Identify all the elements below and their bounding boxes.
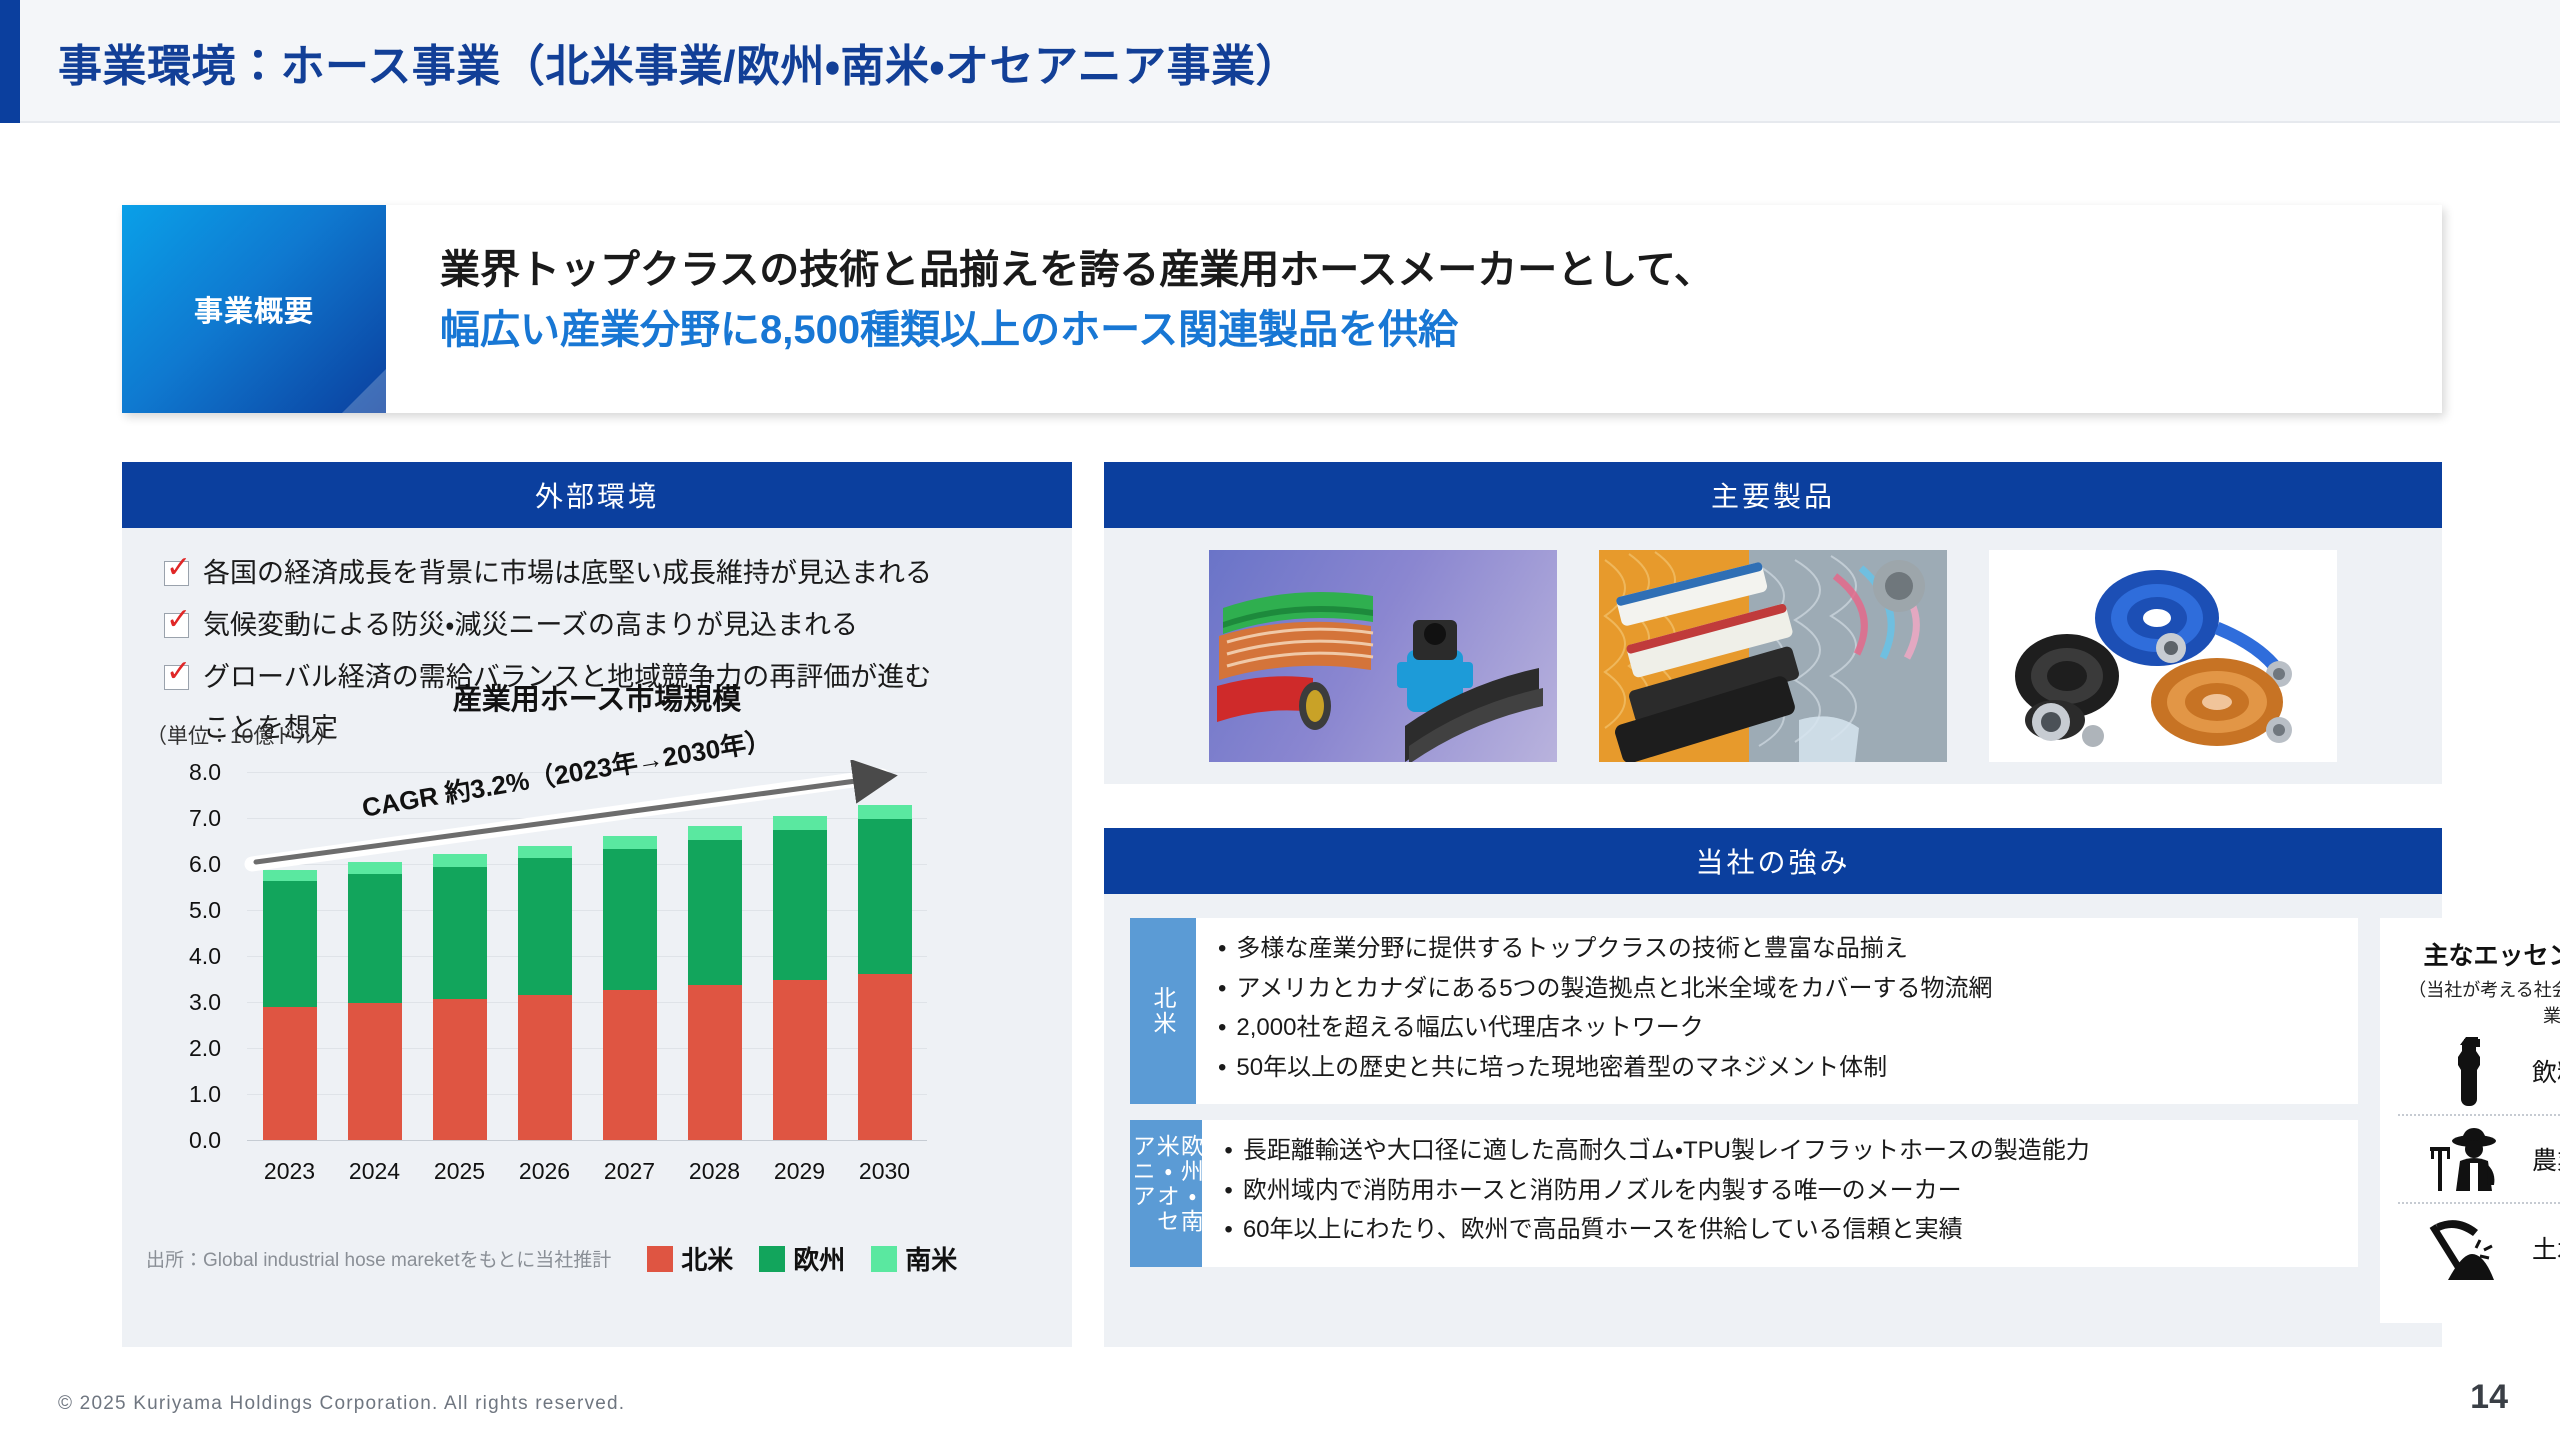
region-block-north-america: 北米 • 多様な産業分野に提供するトップクラスの技術と豊富な品揃え • アメリカ… [1130, 918, 2358, 1104]
company-strengths-body: 北米 • 多様な産業分野に提供するトップクラスの技術と豊富な品揃え • アメリカ… [1104, 894, 2442, 1347]
chart-x-tick: 2026 [500, 1158, 590, 1185]
list-item-label: 長距離輸送や大口径に適した高耐久ゴム・TPU製レイフラットホースの製造能力 [1243, 1134, 2342, 1169]
business-overview-text: 業界トップクラスの技術と品揃えを誇る産業用ホースメーカーとして、 幅広い産業分野… [440, 243, 1714, 357]
pickaxe-icon [2424, 1210, 2520, 1286]
chart-y-tick: 6.0 [131, 851, 221, 878]
chart-bar-segment [348, 874, 402, 1003]
chart-bar-segment [773, 980, 827, 1140]
slide-header: 事業環境：ホース事業（北米事業/欧州・南米・オセアニア事業） [0, 0, 2560, 123]
chart-legend-label: 南米 [905, 1240, 957, 1277]
chart-y-tick: 3.0 [131, 989, 221, 1016]
list-item-label: 飲料 [2532, 1053, 2560, 1089]
chart-bar [518, 846, 572, 1140]
bullet-dot-icon: • [1224, 1213, 1232, 1248]
overview-line-2: 幅広い産業分野に8,500種類以上のホース関連製品を供給 [440, 303, 1714, 357]
list-item: 飲料 [2398, 1028, 2560, 1116]
chart-bar [263, 870, 317, 1140]
chart-bar [433, 854, 487, 1140]
list-item: • 長距離輸送や大口径に適した高耐久ゴム・TPU製レイフラットホースの製造能力 [1224, 1134, 2342, 1169]
market-size-chart: 0.01.02.03.04.05.06.07.08.02023202420252… [152, 760, 1042, 1210]
chart-bar-segment [433, 867, 487, 999]
list-item-label: 気候変動による防災・減災ニーズの高まりが見込まれる [203, 606, 858, 645]
chart-bar [348, 862, 402, 1140]
essential-business-card: 主なエッセンシャル事業 （当社が考える社会に必要不可欠な事業） 飲料 [2380, 918, 2560, 1323]
list-item: ✓ 気候変動による防災・減災ニーズの高まりが見込まれる [164, 606, 1044, 645]
farmer-icon [2424, 1121, 2520, 1197]
list-item: • 2,000社を超える幅広い代理店ネットワーク [1218, 1011, 2342, 1046]
chart-bar-segment [858, 974, 912, 1140]
product-image-suction-hoses [1209, 550, 1557, 762]
list-item: • 欧州域内で消防用ホースと消防用ノズルを内製する唯一のメーカー [1224, 1174, 2342, 1209]
chart-bar-segment [263, 1007, 317, 1140]
chart-unit-label: （単位：10億ドル） [146, 720, 337, 750]
chart-legend-swatch [871, 1246, 897, 1272]
business-overview-tab-label: 事業概要 [194, 288, 314, 330]
chart-legend: 北米欧州南米 [647, 1240, 983, 1277]
chart-bar-segment [348, 1003, 402, 1140]
external-environment-panel: 外部環境 ✓ 各国の経済成長を背景に市場は底堅い成長維持が見込まれる ✓ 気候変… [122, 462, 1072, 1347]
list-item: 農業 [2398, 1116, 2560, 1204]
list-item: • 60年以上にわたり、欧州で高品質ホースを供給している信頼と実績 [1224, 1213, 2342, 1248]
bullet-dot-icon: • [1218, 1011, 1226, 1046]
strength-regions: 北米 • 多様な産業分野に提供するトップクラスの技術と豊富な品揃え • アメリカ… [1130, 918, 2358, 1323]
chart-y-tick: 8.0 [131, 759, 221, 786]
chart-x-tick: 2027 [585, 1158, 675, 1185]
checkbox-checked-icon: ✓ [164, 613, 189, 638]
company-strengths-title: 当社の強み [1104, 828, 2442, 894]
cagr-annotation: CAGR 約3.2%（2023年→2030年） [242, 760, 942, 880]
external-environment-title: 外部環境 [122, 462, 1072, 528]
chart-title: 産業用ホース市場規模 [122, 676, 1072, 718]
product-image-lay-flat-hoses [1989, 550, 2337, 762]
chart-y-tick: 2.0 [131, 1035, 221, 1062]
chart-bar-segment [688, 985, 742, 1140]
product-image-food-grade-hoses [1599, 550, 1947, 762]
chart-legend-item: 南米 [871, 1240, 957, 1277]
overview-line-1: 業界トップクラスの技術と品揃えを誇る産業用ホースメーカーとして、 [440, 243, 1714, 297]
chart-gridline [247, 1140, 927, 1141]
main-products-title: 主要製品 [1104, 462, 2442, 528]
bullet-dot-icon: • [1218, 972, 1226, 1007]
checkbox-checked-icon: ✓ [164, 561, 189, 586]
chart-footer: 出所：Global industrial hose mareketをもとに当社推… [146, 1240, 1046, 1277]
bullet-dot-icon: • [1218, 932, 1226, 967]
chart-x-tick: 2029 [755, 1158, 845, 1185]
chart-y-tick: 4.0 [131, 943, 221, 970]
list-item: • 多様な産業分野に提供するトップクラスの技術と豊富な品揃え [1218, 932, 2342, 967]
footer-copyright: © 2025 Kuriyama Holdings Corporation. Al… [58, 1393, 625, 1415]
list-item: • 50年以上の歴史と共に培った現地密着型のマネジメント体制 [1218, 1051, 2342, 1086]
header-accent-bar [0, 0, 20, 123]
company-strengths-panel: 当社の強み 北米 • 多様な産業分野に提供するトップクラスの技術と豊富な品揃え … [1104, 828, 2442, 1347]
page-number: 14 [2470, 1378, 2508, 1417]
chart-bar-segment [603, 990, 657, 1140]
chart-y-tick: 1.0 [131, 1081, 221, 1108]
list-item: • アメリカとカナダにある5つの製造拠点と北米全域をカバーする物流網 [1218, 972, 2342, 1007]
main-products-body [1104, 528, 2442, 784]
list-item-label: 各国の経済成長を背景に市場は底堅い成長維持が見込まれる [203, 554, 932, 593]
essential-business-title: 主なエッセンシャル事業 [2398, 936, 2560, 972]
region-bullet-list: • 長距離輸送や大口径に適した高耐久ゴム・TPU製レイフラットホースの製造能力 … [1202, 1120, 2358, 1267]
list-item: ✓ 各国の経済成長を背景に市場は底堅い成長維持が見込まれる [164, 554, 1044, 593]
chart-bar-segment [263, 881, 317, 1007]
main-products-panel: 主要製品 [1104, 462, 2442, 784]
chart-x-tick: 2024 [330, 1158, 420, 1185]
region-block-europe-south-america-oceania: 欧州・南米・オセアニア • 長距離輸送や大口径に適した高耐久ゴム・TPU製レイフ… [1130, 1120, 2358, 1267]
chart-y-tick: 7.0 [131, 805, 221, 832]
region-tab-label: 欧州・南米・オセアニア [1130, 1120, 1202, 1267]
business-overview-tab: 事業概要 [122, 205, 386, 413]
list-item-label: 農業 [2532, 1141, 2560, 1177]
chart-bar [603, 836, 657, 1140]
chart-legend-item: 欧州 [759, 1240, 845, 1277]
bullet-dot-icon: • [1218, 1051, 1226, 1086]
chart-bar-segment [518, 995, 572, 1140]
list-item-label: アメリカとカナダにある5つの製造拠点と北米全域をカバーする物流網 [1236, 972, 2342, 1007]
slide: 事業環境：ホース事業（北米事業/欧州・南米・オセアニア事業） 事業概要 業界トッ… [0, 0, 2560, 1440]
list-item-label: 60年以上にわたり、欧州で高品質ホースを供給している信頼と実績 [1243, 1213, 2342, 1248]
chart-y-tick: 0.0 [131, 1127, 221, 1154]
chart-x-tick: 2023 [245, 1158, 335, 1185]
chart-legend-item: 北米 [647, 1240, 733, 1277]
region-bullet-list: • 多様な産業分野に提供するトップクラスの技術と豊富な品揃え • アメリカとカナ… [1196, 918, 2358, 1104]
chart-x-tick: 2025 [415, 1158, 505, 1185]
chart-legend-label: 欧州 [793, 1240, 845, 1277]
list-item-label: 多様な産業分野に提供するトップクラスの技術と豊富な品揃え [1236, 932, 2342, 967]
bullet-dot-icon: • [1224, 1174, 1232, 1209]
essential-business-subtitle: （当社が考える社会に必要不可欠な事業） [2398, 976, 2560, 1028]
chart-legend-swatch [647, 1246, 673, 1272]
chart-bar-segment [433, 999, 487, 1140]
chart-source-note: 出所：Global industrial hose mareketをもとに当社推… [146, 1245, 611, 1272]
chart-legend-label: 北米 [681, 1240, 733, 1277]
chart-x-tick: 2030 [840, 1158, 930, 1185]
region-tab-label: 北米 [1130, 918, 1196, 1104]
list-item-label: 50年以上の歴史と共に培った現地密着型のマネジメント体制 [1236, 1051, 2342, 1086]
list-item: 土木建築 [2398, 1204, 2560, 1292]
list-item-label: 欧州域内で消防用ホースと消防用ノズルを内製する唯一のメーカー [1243, 1174, 2342, 1209]
chart-x-tick: 2028 [670, 1158, 760, 1185]
chart-legend-swatch [759, 1246, 785, 1272]
chart-y-tick: 5.0 [131, 897, 221, 924]
external-environment-body: ✓ 各国の経済成長を背景に市場は底堅い成長維持が見込まれる ✓ 気候変動による防… [122, 528, 1072, 1347]
page-title: 事業環境：ホース事業（北米事業/欧州・南米・オセアニア事業） [58, 30, 1300, 94]
list-item-label: 2,000社を超える幅広い代理店ネットワーク [1236, 1011, 2342, 1046]
business-overview-band: 事業概要 業界トップクラスの技術と品揃えを誇る産業用ホースメーカーとして、 幅広… [122, 205, 2442, 413]
bullet-dot-icon: • [1224, 1134, 1232, 1169]
list-item-label: 土木建築 [2532, 1230, 2560, 1266]
bottle-icon [2424, 1033, 2520, 1109]
